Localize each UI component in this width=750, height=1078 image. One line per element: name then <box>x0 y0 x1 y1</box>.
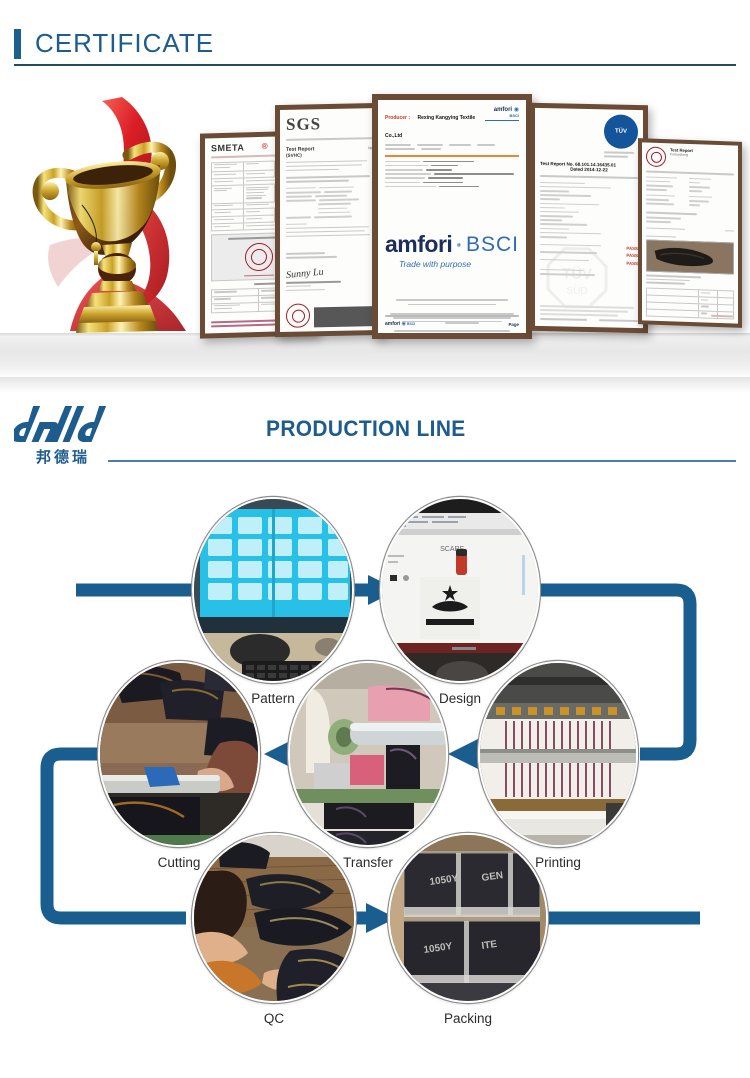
sample-photo <box>647 241 733 274</box>
flow-step-label-qc: QC <box>174 1011 374 1026</box>
certificate-card-sgs[interactable]: SGS Test Report No. (SVHC) <box>275 103 385 337</box>
sgs-signature: Sunny Lu <box>286 262 375 281</box>
transfer-photo <box>290 663 446 845</box>
company-logo-chinese: 邦德瑞 <box>36 446 90 467</box>
certificate-section: CERTIFICATE <box>0 0 750 390</box>
svg-text:SÜD: SÜD <box>566 284 587 296</box>
test-report-sub: Fortsetzung <box>670 152 734 158</box>
trophy-ribbon-graphic <box>10 95 220 340</box>
certificate-card-tuv[interactable]: TÜV Test Report No. 68.101.14.16435.01 D… <box>530 103 648 333</box>
smeta-seal-icon <box>245 242 273 271</box>
qc-photo-bubble[interactable] <box>192 833 356 1003</box>
smeta-brand: SMETA <box>211 142 244 153</box>
test-report-seal-icon <box>646 146 666 167</box>
company-logo[interactable]: 邦德瑞 <box>14 402 139 464</box>
amfori-page-label: Page <box>509 322 520 327</box>
tuv-logo-icon: TÜV <box>604 114 638 149</box>
production-line-section: 邦德瑞 PRODUCTION LINE <box>0 390 750 1078</box>
balld-wordmark-icon <box>14 402 139 448</box>
certificate-divider <box>14 64 736 66</box>
smeta-brand-mark: ® <box>262 142 268 151</box>
amfori-accent-rule <box>385 155 519 157</box>
sgs-subheading: (SVHC) <box>286 151 374 158</box>
production-flow-diagram: Pattern S <box>0 475 750 1075</box>
design-photo: SCARF <box>382 499 538 681</box>
amfori-bsci-label: BSCI <box>466 233 519 257</box>
packing-photo-bubble[interactable]: 1050Y GEN 1050Y ITE <box>388 833 548 1003</box>
page-title: CERTIFICATE <box>35 28 214 59</box>
amfori-info-rows <box>385 161 519 188</box>
pattern-photo-bubble[interactable] <box>192 497 354 683</box>
pattern-photo <box>194 499 352 681</box>
production-title: PRODUCTION LINE <box>266 416 466 442</box>
tuv-watermark-icon: TÜV SÜD <box>546 246 608 309</box>
production-divider <box>108 460 736 462</box>
sgs-stamp-icon <box>286 303 310 328</box>
cutting-photo-bubble[interactable] <box>98 661 260 847</box>
printing-photo <box>480 663 636 845</box>
svg-text:ITE: ITE <box>481 939 498 952</box>
design-photo-bubble[interactable]: SCARF <box>380 497 540 683</box>
amfori-spiral-icon <box>457 234 461 256</box>
cutting-photo <box>100 663 258 845</box>
amfori-producer-label: Producer : <box>385 115 410 121</box>
certificate-card-test-report[interactable]: Test Report Fortsetzung <box>638 138 742 328</box>
sgs-heading: Test Report <box>286 146 314 153</box>
packing-photo: 1050Y GEN 1050Y ITE <box>390 835 546 1001</box>
printing-photo-bubble[interactable] <box>478 661 638 847</box>
trophy-illustration <box>10 95 220 340</box>
certificate-card-amfori[interactable]: Producer : Rexing Kangying Textile Co.,L… <box>372 94 532 339</box>
qc-photo <box>194 835 354 1001</box>
tuv-report-date: Dated 2014-12-22 <box>540 166 638 173</box>
amfori-tagline: Trade with purpose <box>399 259 519 269</box>
svg-text:TÜV: TÜV <box>562 265 592 283</box>
transfer-photo-bubble[interactable] <box>288 661 448 847</box>
certificate-header: CERTIFICATE <box>14 28 214 59</box>
certificate-accent-bar <box>14 29 21 59</box>
flow-step-label-packing: Packing <box>368 1011 568 1026</box>
sgs-brand: SGS <box>286 113 374 135</box>
amfori-wordmark: amfori <box>385 231 452 258</box>
